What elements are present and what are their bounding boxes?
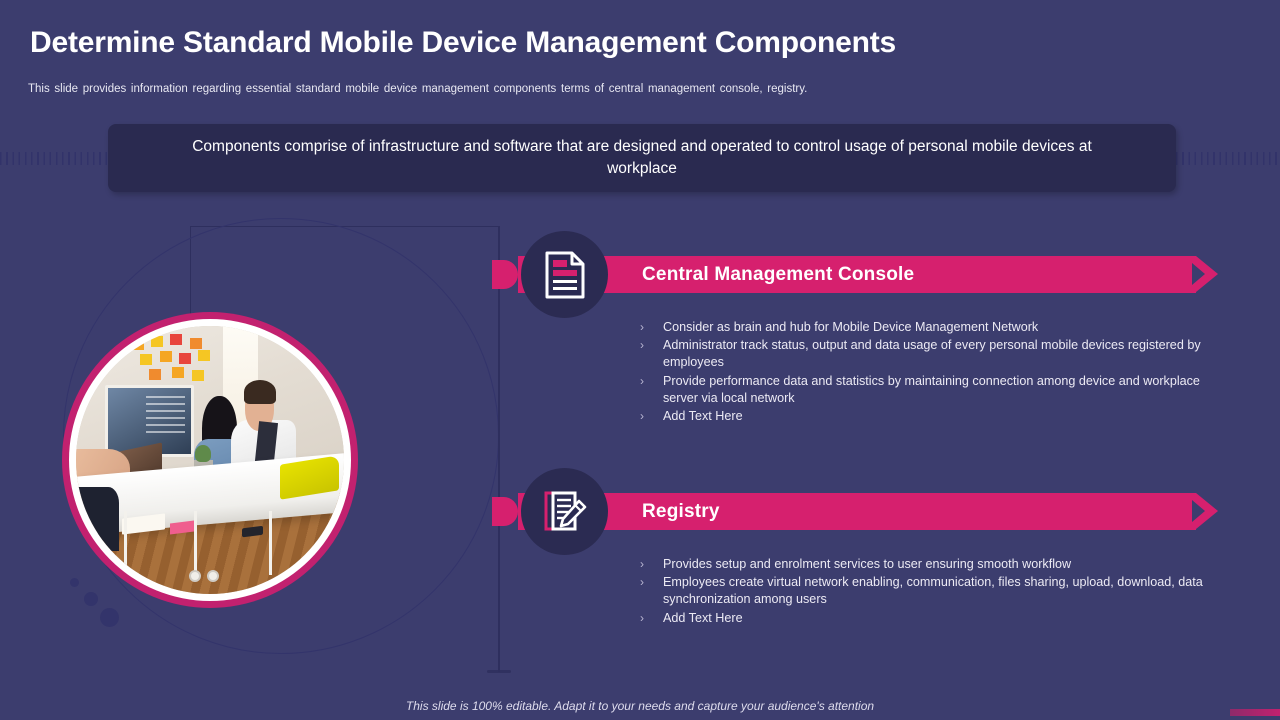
component-header-bar[interactable]: Registry bbox=[492, 493, 1222, 530]
list-item-text: Administrator track status, output and d… bbox=[663, 338, 1201, 369]
chevron-right-icon: › bbox=[640, 337, 644, 354]
sticky-notes bbox=[130, 334, 237, 388]
corner-accent-bar bbox=[1230, 709, 1280, 716]
bar-left-notch bbox=[492, 260, 518, 289]
list-item: › Employees create virtual network enabl… bbox=[638, 574, 1228, 608]
chevron-right-icon: › bbox=[640, 574, 644, 591]
chevron-right-icon: › bbox=[640, 373, 644, 390]
list-item: › Add Text Here bbox=[638, 610, 1228, 627]
list-item-text: Provide performance data and statistics … bbox=[663, 374, 1200, 405]
footer-note: This slide is 100% editable. Adapt it to… bbox=[0, 699, 1280, 713]
chevron-right-icon: › bbox=[640, 556, 644, 573]
statement-banner-text: Components comprise of infrastructure an… bbox=[178, 136, 1106, 180]
photo-white-ring bbox=[69, 319, 351, 601]
list-item-text: Employees create virtual network enablin… bbox=[663, 575, 1203, 606]
slide-canvas: Determine Standard Mobile Device Managem… bbox=[0, 0, 1280, 720]
list-item: › Provide performance data and statistic… bbox=[638, 373, 1228, 407]
team-meeting-photo bbox=[62, 312, 358, 608]
document-icon bbox=[521, 231, 608, 318]
chevron-right-icon: › bbox=[640, 319, 644, 336]
bar-left-notch bbox=[492, 497, 518, 526]
component-title: Registry bbox=[642, 493, 720, 530]
bar-body bbox=[518, 493, 1196, 530]
chevron-right-icon: › bbox=[640, 408, 644, 425]
list-item-text: Add Text Here bbox=[663, 611, 743, 625]
decorative-dot-large bbox=[100, 608, 119, 627]
component-registry[interactable]: Registry › Provides setup and enrolment … bbox=[492, 493, 1222, 628]
list-item: › Consider as brain and hub for Mobile D… bbox=[638, 319, 1228, 336]
decorative-dot-medium bbox=[84, 592, 98, 606]
statement-banner: Components comprise of infrastructure an… bbox=[108, 124, 1176, 192]
component-title: Central Management Console bbox=[642, 256, 914, 293]
list-item-text: Consider as brain and hub for Mobile Dev… bbox=[663, 320, 1038, 334]
list-item: › Provides setup and enrolment services … bbox=[638, 556, 1228, 573]
tick-rule-left bbox=[0, 152, 108, 165]
component-bullet-list: › Provides setup and enrolment services … bbox=[638, 556, 1228, 627]
component-bullet-list: › Consider as brain and hub for Mobile D… bbox=[638, 319, 1228, 425]
bar-arrow-tip-cutout bbox=[1192, 263, 1205, 285]
bar-arrow-tip-cutout bbox=[1192, 500, 1205, 522]
chevron-right-icon: › bbox=[640, 610, 644, 627]
photo-content bbox=[76, 326, 344, 594]
component-header-bar[interactable]: Central Management Console bbox=[492, 256, 1222, 293]
list-item-text: Add Text Here bbox=[663, 409, 743, 423]
page-subtitle: This slide provides information regardin… bbox=[28, 83, 807, 95]
notebook-pencil-icon bbox=[521, 468, 608, 555]
page-title: Determine Standard Mobile Device Managem… bbox=[30, 26, 896, 60]
list-item: › Administrator track status, output and… bbox=[638, 337, 1228, 371]
list-item-text: Provides setup and enrolment services to… bbox=[663, 557, 1071, 571]
tick-rule-right bbox=[1176, 152, 1280, 165]
component-central-management-console[interactable]: Central Management Console › Consider as… bbox=[492, 256, 1222, 426]
list-item: › Add Text Here bbox=[638, 408, 1228, 425]
connector-line-end-cap bbox=[487, 670, 511, 673]
